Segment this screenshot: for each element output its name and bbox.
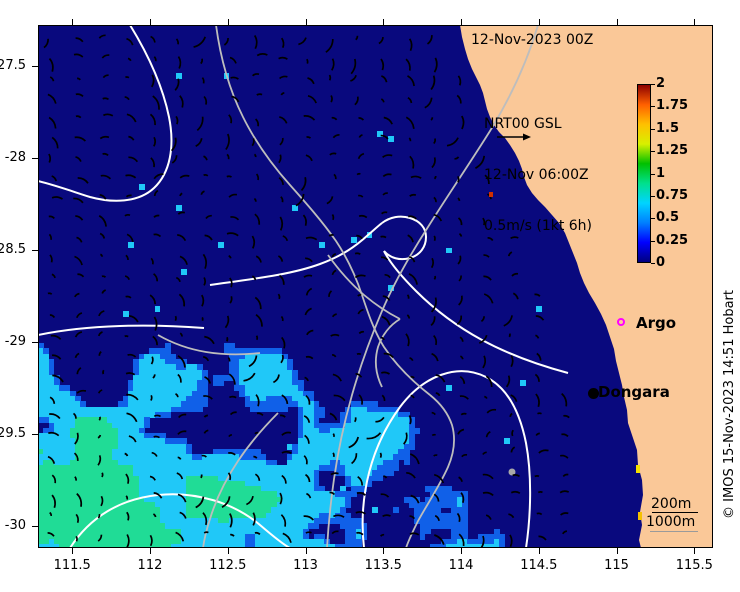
current-vector-barb bbox=[513, 475, 520, 476]
current-vector-barb bbox=[409, 274, 417, 285]
current-vector-barb bbox=[178, 431, 186, 434]
current-vector-barb bbox=[410, 454, 419, 464]
current-vector-barb bbox=[461, 493, 463, 503]
current-vector-barb bbox=[332, 215, 333, 220]
current-vector-barb bbox=[512, 430, 513, 436]
current-vector-barb bbox=[457, 316, 461, 325]
current-vector-barb bbox=[252, 139, 254, 146]
current-vector-barb bbox=[333, 453, 334, 457]
depth-contour-200-rule bbox=[652, 512, 698, 513]
current-vector-barb bbox=[50, 77, 53, 81]
y-tick-label: -28.5 bbox=[0, 242, 26, 257]
current-vector-barb bbox=[483, 475, 493, 479]
x-tick-top bbox=[383, 19, 384, 25]
current-vector-barb bbox=[283, 533, 291, 542]
current-vector-barb bbox=[52, 197, 62, 199]
current-vector-barb bbox=[125, 454, 128, 457]
current-vector-barb bbox=[432, 413, 436, 415]
current-vector-barb bbox=[180, 193, 182, 196]
current-vector-barb bbox=[128, 355, 136, 357]
current-vector-barb bbox=[231, 412, 237, 414]
current-vector-barb bbox=[154, 234, 161, 236]
current-vector-barb bbox=[355, 417, 356, 421]
colorbar-tick-label: 2 bbox=[656, 76, 665, 91]
current-vector-barb bbox=[201, 475, 202, 478]
current-vector-barb bbox=[154, 57, 156, 62]
current-vector-barb bbox=[539, 450, 549, 453]
current-vector-barb bbox=[78, 178, 88, 183]
colorbar[interactable] bbox=[637, 84, 651, 263]
current-vector-barb bbox=[151, 37, 155, 43]
current-vector-barb bbox=[52, 375, 63, 382]
current-vector-barb bbox=[304, 516, 314, 520]
current-vector-barb bbox=[102, 473, 103, 477]
current-vector-barb bbox=[484, 294, 493, 303]
copyright-notice: © IMOS 15-Nov-2023 14:51 Hobart bbox=[722, 290, 737, 519]
current-vector-barb bbox=[408, 76, 415, 86]
x-tick-label: 115 bbox=[587, 558, 647, 573]
current-vector-barb bbox=[512, 274, 518, 276]
colorbar-tick bbox=[651, 263, 655, 264]
current-vector-barb bbox=[127, 114, 136, 122]
current-vector-barb bbox=[359, 395, 362, 405]
current-vector-barb bbox=[409, 138, 410, 141]
current-vector-barb bbox=[408, 98, 412, 103]
map-figure: 111.5112112.5113113.5114114.5115115.5 -2… bbox=[0, 0, 740, 592]
current-vector-barb bbox=[202, 317, 203, 320]
colorbar-tick bbox=[651, 218, 655, 219]
current-vector-barb bbox=[252, 236, 254, 248]
current-vector-barb bbox=[179, 294, 184, 306]
current-vector-barb bbox=[359, 216, 367, 218]
current-vector-barb bbox=[125, 215, 130, 216]
current-vector-barb bbox=[356, 512, 366, 514]
colorbar-tick-label: 0.25 bbox=[656, 233, 688, 248]
current-vector-barb bbox=[432, 258, 433, 268]
current-vector-barb bbox=[483, 452, 487, 454]
current-vector-barb bbox=[256, 256, 261, 262]
current-vector-barb bbox=[434, 455, 438, 456]
current-vector-barb bbox=[381, 59, 383, 70]
colorbar-tick-label: 1.5 bbox=[656, 121, 679, 136]
current-vector-barb bbox=[407, 315, 409, 319]
current-vector-barb bbox=[278, 294, 279, 299]
current-vector-barb bbox=[355, 97, 358, 105]
current-vector-barb bbox=[460, 377, 464, 384]
current-vector-barb bbox=[459, 296, 462, 305]
current-vector-barb bbox=[307, 289, 312, 296]
current-vector-barb bbox=[125, 276, 129, 280]
current-vector-barb bbox=[306, 357, 313, 359]
current-vector-barb bbox=[177, 39, 179, 44]
current-vector-barb bbox=[304, 116, 315, 120]
current-vector-barb bbox=[537, 513, 542, 514]
current-vector-barb bbox=[51, 336, 61, 340]
coast-speck bbox=[638, 512, 642, 520]
current-vector-barb bbox=[486, 376, 491, 387]
current-vector-barb bbox=[436, 393, 440, 396]
current-vector-barb bbox=[177, 235, 185, 241]
current-vector-barb bbox=[255, 36, 257, 49]
current-vector-barb bbox=[99, 417, 100, 421]
current-vector-barb bbox=[434, 215, 442, 221]
current-vector-barb bbox=[102, 276, 106, 277]
current-vector-barb bbox=[431, 316, 435, 325]
current-vector-barb bbox=[306, 238, 317, 240]
current-vector-barb bbox=[230, 535, 234, 537]
current-vector-barb bbox=[75, 477, 76, 481]
current-vector-barb bbox=[381, 99, 384, 102]
current-vector-barb bbox=[49, 154, 50, 163]
current-vector-barb bbox=[304, 456, 307, 465]
current-vector-barb bbox=[410, 358, 413, 361]
current-vector-barb bbox=[175, 316, 176, 321]
current-vector-barb bbox=[513, 293, 518, 299]
current-vector-barb bbox=[226, 316, 229, 328]
current-vector-barb bbox=[329, 291, 331, 297]
current-vector-barb bbox=[483, 356, 485, 368]
current-vector-barb bbox=[560, 491, 569, 492]
current-vector-barb bbox=[229, 195, 237, 198]
vector-scale-arrow-icon bbox=[497, 131, 531, 143]
current-vector-barb bbox=[435, 516, 439, 521]
current-vector-barb bbox=[406, 59, 410, 71]
current-vector-barb bbox=[48, 533, 54, 536]
x-tick bbox=[539, 548, 540, 554]
current-vector-barb bbox=[196, 138, 202, 146]
current-vector-barb bbox=[563, 531, 567, 534]
current-vector-barb bbox=[52, 274, 55, 278]
current-vector-barb bbox=[381, 236, 386, 237]
current-vector-barb bbox=[227, 176, 232, 177]
current-vector-barb bbox=[176, 116, 177, 124]
current-vector-barb bbox=[562, 394, 567, 407]
colorbar-tick bbox=[651, 196, 655, 197]
current-vector-barb bbox=[127, 413, 137, 422]
current-vector-barb bbox=[255, 154, 256, 157]
current-vector-barb bbox=[357, 354, 361, 355]
current-vector-barb bbox=[180, 333, 182, 336]
argo-marker-icon[interactable] bbox=[617, 318, 625, 326]
x-tick-label: 115.5 bbox=[664, 558, 724, 573]
current-vector-barb bbox=[75, 216, 82, 220]
colorbar-tick bbox=[651, 84, 655, 85]
current-vector-barb bbox=[504, 315, 512, 326]
current-vector-barb bbox=[459, 534, 464, 546]
current-vector-barb bbox=[278, 256, 282, 262]
current-vector-barb bbox=[358, 477, 363, 486]
current-vector-barb bbox=[282, 476, 286, 484]
current-vector-barb bbox=[382, 395, 384, 401]
current-vector-barb bbox=[404, 433, 407, 445]
x-tick-top bbox=[694, 19, 695, 25]
current-vector-barb bbox=[194, 37, 206, 47]
x-tick bbox=[461, 548, 462, 554]
current-vector-barb bbox=[432, 157, 435, 167]
current-vector-barb bbox=[77, 368, 81, 374]
colorbar-tick bbox=[651, 174, 655, 175]
current-vector-barb bbox=[306, 532, 312, 533]
vector-legend-scale: 0.5m/s (1kt 6h) bbox=[484, 218, 592, 235]
x-tick-top bbox=[72, 19, 73, 25]
current-vector-barb bbox=[203, 513, 206, 525]
current-vector-barb bbox=[178, 356, 185, 368]
current-vector-barb bbox=[281, 355, 283, 363]
current-vector-barb bbox=[410, 156, 414, 168]
current-vector-barb bbox=[257, 336, 258, 340]
current-vector-barb bbox=[155, 191, 158, 196]
current-vector-barb bbox=[99, 352, 101, 356]
current-vector-barb bbox=[129, 316, 138, 322]
current-vector-barb bbox=[103, 75, 108, 77]
current-vector-barb bbox=[98, 455, 100, 465]
current-vector-barb bbox=[367, 433, 381, 439]
current-vector-barb bbox=[50, 59, 53, 72]
colorbar-tick-label: 0.75 bbox=[656, 188, 688, 203]
current-vector-barb bbox=[460, 396, 468, 399]
current-vector-barb bbox=[153, 336, 157, 345]
current-vector-barb bbox=[154, 137, 155, 146]
current-vector-barb bbox=[203, 396, 212, 399]
current-vector-barb bbox=[203, 357, 208, 361]
y-tick-label: -30 bbox=[0, 518, 26, 533]
current-vector-barb bbox=[204, 415, 208, 417]
current-vector-barb bbox=[204, 156, 207, 160]
current-vector-barb bbox=[204, 97, 206, 105]
current-vector-barb bbox=[150, 477, 155, 481]
current-vector-barb bbox=[98, 435, 100, 438]
current-vector-barb bbox=[561, 434, 568, 436]
current-vector-barb bbox=[126, 395, 138, 400]
x-tick bbox=[72, 548, 73, 554]
current-vector-barb bbox=[178, 212, 185, 214]
current-vector-barb bbox=[126, 175, 136, 178]
current-vector-barb bbox=[230, 514, 232, 528]
current-vector-barb bbox=[425, 98, 432, 108]
coast-speck bbox=[636, 465, 640, 473]
current-vector-barb bbox=[49, 414, 60, 418]
y-tick bbox=[32, 434, 38, 435]
current-vector-barb bbox=[76, 94, 83, 96]
current-vector-barb bbox=[304, 416, 309, 423]
x-tick-top bbox=[539, 19, 540, 25]
current-vector-barb bbox=[510, 535, 512, 547]
current-vector-barb bbox=[75, 257, 83, 266]
current-vector-barb bbox=[205, 235, 212, 240]
current-vector-barb bbox=[230, 296, 232, 303]
current-vector-barb bbox=[48, 433, 58, 436]
current-vector-barb bbox=[231, 77, 239, 79]
current-vector-barb bbox=[381, 372, 389, 374]
current-vector-barb bbox=[431, 76, 434, 90]
current-vector-barb bbox=[483, 493, 493, 496]
current-vector-barb bbox=[230, 58, 236, 64]
current-vector-barb bbox=[349, 437, 359, 448]
current-vector-barb bbox=[101, 176, 111, 179]
current-vector-barb bbox=[244, 373, 255, 381]
current-vector-barb bbox=[535, 294, 540, 296]
current-vector-barb bbox=[333, 434, 334, 437]
current-vector-barb bbox=[383, 174, 391, 176]
current-vector-barb bbox=[176, 394, 178, 397]
y-tick-label: -29 bbox=[0, 334, 26, 349]
current-vector-barb bbox=[224, 38, 228, 45]
current-vector-barb bbox=[537, 354, 541, 361]
current-vector-barb bbox=[535, 476, 539, 477]
current-vector-barb bbox=[535, 374, 539, 381]
current-vector-barb bbox=[434, 276, 435, 279]
current-vector-barb bbox=[50, 315, 55, 318]
current-vector-barb bbox=[436, 375, 445, 382]
current-vector-barb bbox=[411, 176, 421, 178]
current-vector-barb bbox=[487, 410, 496, 413]
current-vector-barb bbox=[103, 114, 112, 115]
current-vector-barb bbox=[356, 236, 362, 239]
current-vector-barb bbox=[282, 433, 291, 436]
current-vector-barb bbox=[334, 395, 345, 400]
current-vector-barb bbox=[254, 199, 255, 202]
current-vector-barb bbox=[77, 313, 82, 318]
current-vector-barb bbox=[357, 174, 360, 175]
current-vector-barb bbox=[154, 317, 156, 331]
current-vector-barb bbox=[560, 456, 568, 459]
current-vector-barb bbox=[229, 435, 232, 437]
current-vector-barb bbox=[307, 137, 311, 138]
current-vector-barb bbox=[73, 198, 83, 202]
current-vector-barb bbox=[460, 356, 462, 359]
current-vector-barb bbox=[538, 492, 542, 493]
colorbar-tick-label: 1.75 bbox=[656, 98, 688, 113]
current-vector-barb bbox=[458, 513, 460, 521]
current-vector-barb bbox=[153, 96, 159, 110]
current-vector-barb bbox=[406, 334, 409, 346]
current-vector-barb bbox=[432, 435, 435, 436]
current-vector-barb bbox=[256, 315, 262, 327]
current-vector-barb bbox=[459, 218, 462, 225]
current-vector-barb bbox=[150, 535, 152, 546]
current-vector-barb bbox=[304, 215, 307, 226]
current-vector-barb bbox=[227, 154, 229, 159]
current-vector-barb bbox=[381, 257, 388, 260]
current-vector-barb bbox=[99, 390, 102, 393]
current-vector-barb bbox=[280, 275, 284, 284]
current-vector-barb bbox=[256, 119, 259, 126]
current-vector-barb bbox=[381, 76, 386, 82]
current-vector-barb bbox=[76, 332, 82, 337]
current-vector-barb bbox=[359, 118, 364, 120]
current-vector-barb bbox=[257, 54, 267, 56]
current-vector-barb bbox=[99, 35, 105, 38]
current-vector-barb bbox=[481, 536, 484, 548]
current-vector-barb bbox=[204, 532, 208, 533]
current-vector-barb bbox=[358, 310, 363, 314]
current-vector-barb bbox=[127, 195, 132, 196]
x-tick-top bbox=[306, 19, 307, 25]
x-tick-label: 113.5 bbox=[353, 558, 413, 573]
current-vector-barb bbox=[434, 336, 437, 345]
current-vector-barb bbox=[77, 494, 81, 507]
current-vector-barb bbox=[203, 254, 206, 268]
current-vector-barb bbox=[228, 453, 235, 455]
current-vector-barb bbox=[302, 177, 306, 190]
current-vector-barb bbox=[434, 475, 443, 483]
current-vector-barb bbox=[385, 275, 391, 278]
current-vector-barb bbox=[462, 455, 467, 457]
current-vector-barb bbox=[228, 358, 229, 362]
current-vector-barb bbox=[172, 155, 176, 163]
current-vector-barb bbox=[333, 314, 337, 317]
current-vector-barb bbox=[204, 175, 208, 176]
current-vector-barb bbox=[306, 475, 310, 482]
colorbar-tick bbox=[651, 129, 655, 130]
current-vector-barb bbox=[510, 414, 512, 417]
current-vector-barb bbox=[460, 337, 463, 342]
current-vector-barb bbox=[75, 453, 78, 461]
current-vector-barb bbox=[483, 276, 491, 280]
current-vector-barb bbox=[280, 217, 282, 231]
current-vector-barb bbox=[102, 55, 109, 58]
current-vector-barb bbox=[458, 256, 460, 264]
current-vector-barb bbox=[305, 308, 311, 315]
current-vector-barb bbox=[280, 138, 283, 145]
current-vector-barb bbox=[44, 39, 48, 48]
current-vector-barb bbox=[326, 39, 333, 52]
current-vector-barb bbox=[383, 476, 386, 478]
current-vector-barb bbox=[76, 38, 83, 42]
current-vector-barb bbox=[99, 311, 104, 316]
current-vector-barb bbox=[179, 57, 181, 69]
current-vector-barb bbox=[408, 295, 409, 299]
current-vector-barb bbox=[459, 276, 461, 281]
current-vector-barb bbox=[331, 96, 332, 103]
current-vector-barb bbox=[536, 316, 544, 320]
current-vector-barb bbox=[49, 216, 55, 218]
current-vector-barb bbox=[461, 414, 466, 415]
current-vector-barb bbox=[538, 413, 542, 414]
current-vector-barb bbox=[49, 118, 56, 129]
current-vector-barb bbox=[333, 135, 339, 138]
vector-legend-time: 12-Nov 06:00Z bbox=[484, 167, 592, 184]
current-vector-barb bbox=[77, 274, 83, 277]
current-vector-barb bbox=[75, 433, 78, 444]
current-vector-barb bbox=[249, 356, 257, 367]
y-tick bbox=[32, 250, 38, 251]
current-vector-barb bbox=[255, 533, 260, 535]
current-vector-barb bbox=[383, 155, 393, 157]
current-vector-barb bbox=[281, 515, 285, 527]
current-vector-barb bbox=[358, 295, 361, 296]
current-vector-barb bbox=[204, 337, 214, 344]
current-vector-barb bbox=[205, 377, 211, 384]
current-vector-barb bbox=[379, 37, 383, 43]
current-vector-barb bbox=[434, 535, 444, 545]
current-vector-barb bbox=[359, 154, 364, 159]
current-vector-barb bbox=[304, 275, 312, 277]
current-vector-barb bbox=[253, 74, 259, 76]
current-vector-barb bbox=[457, 95, 461, 103]
x-tick-label: 112.5 bbox=[198, 558, 258, 573]
map-plot-area[interactable] bbox=[38, 25, 713, 548]
current-vector-barb bbox=[50, 397, 54, 404]
current-vector-barb bbox=[305, 377, 309, 381]
current-vector-barb bbox=[431, 117, 432, 120]
current-vector-barb bbox=[536, 433, 540, 435]
current-vector-barb bbox=[125, 77, 128, 78]
colorbar-tick bbox=[651, 106, 655, 107]
current-vector-barb bbox=[298, 38, 306, 45]
current-vector-barb bbox=[511, 356, 513, 367]
current-vector-barb bbox=[255, 474, 259, 481]
